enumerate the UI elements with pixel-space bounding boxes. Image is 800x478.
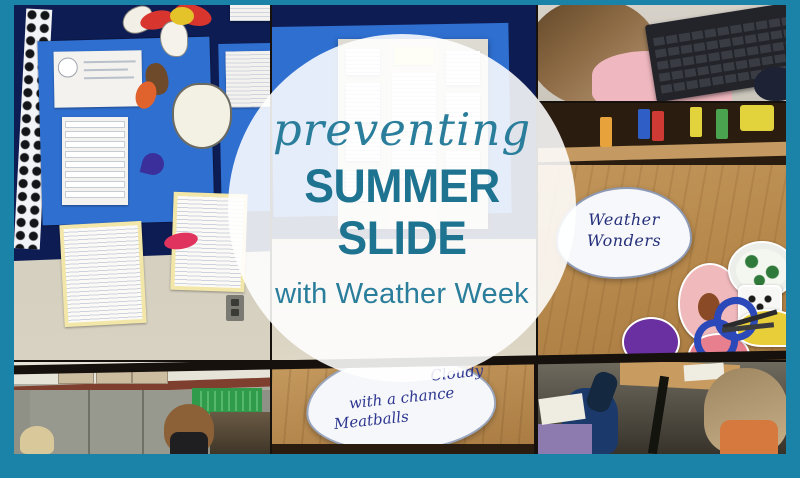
student-blond xyxy=(20,426,54,454)
supply-box-yellow xyxy=(740,105,774,131)
table-front-edge xyxy=(272,444,534,454)
sun-drawing-icon xyxy=(58,57,78,77)
student-seated xyxy=(164,404,214,454)
paper-cutout-yellow xyxy=(170,7,194,25)
sentence-strip xyxy=(65,151,125,158)
worksheet-line xyxy=(84,60,136,63)
computer-mouse xyxy=(754,67,786,101)
supply-pile xyxy=(210,412,270,454)
worksheet-top-edge xyxy=(230,5,270,21)
glue-stick-yellow xyxy=(690,107,702,137)
weather-wonders-line-1: Weather xyxy=(558,209,690,230)
scissors xyxy=(694,293,778,353)
glue-stick-blue xyxy=(638,109,650,139)
worksheet-sun-drawing xyxy=(54,50,143,108)
sentence-strip xyxy=(65,191,125,198)
overlay-script-line: preventing xyxy=(273,106,531,154)
overlay-headline: SUMMER SLIDE xyxy=(237,160,568,264)
glue-stick-red xyxy=(652,111,664,141)
collage-cell-keyboard-desk xyxy=(538,5,786,101)
overlay-subline: with Weather Week xyxy=(275,278,529,310)
sentence-strip xyxy=(65,121,125,128)
worksheet-right xyxy=(226,50,270,107)
glue-stick-orange xyxy=(600,117,612,147)
sentence-strip xyxy=(65,181,125,188)
sentence-strip xyxy=(65,161,125,168)
worksheet-lined-page xyxy=(64,225,143,323)
text-overlay-circle: preventing SUMMER SLIDE with Weather Wee… xyxy=(228,34,576,382)
student-foreground xyxy=(704,368,786,454)
sentence-strip xyxy=(65,171,125,178)
pinterest-graphic: Weather Wonders xyxy=(0,0,800,478)
wall-outlet xyxy=(226,295,244,321)
sentence-strip xyxy=(65,141,125,148)
worksheet-sentence-strips xyxy=(62,117,128,205)
weather-wonders-line-2: Wonders xyxy=(558,230,690,251)
paper-cutout-white-2 xyxy=(160,21,188,57)
weather-wonders-text: Weather Wonders xyxy=(558,209,690,251)
worksheet-line xyxy=(84,76,134,79)
collage-cell-weather-wonders-table: Weather Wonders xyxy=(538,103,786,360)
table-ledge xyxy=(538,142,786,162)
cabinet-door xyxy=(90,390,144,454)
glue-stick-green xyxy=(716,109,728,139)
collage-divider-horizontal-top-right xyxy=(536,101,786,103)
worksheet-yellow-mat-left xyxy=(59,221,146,327)
sentence-strip xyxy=(65,131,125,138)
student-legs xyxy=(536,424,592,454)
worksheet-line xyxy=(84,68,128,71)
paper-cutout-icecream xyxy=(172,83,232,149)
